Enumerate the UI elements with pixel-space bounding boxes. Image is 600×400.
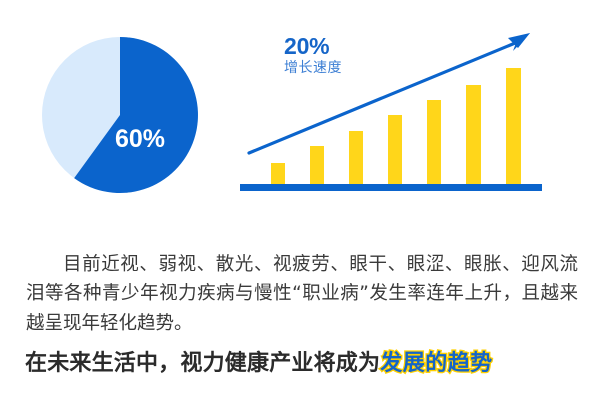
headline: 在未来生活中，视力健康产业将成为发展的趋势 xyxy=(25,345,585,377)
pie-percent-label: 60% xyxy=(115,125,165,153)
bar-1 xyxy=(271,163,285,185)
bar-2 xyxy=(310,146,324,185)
chart-baseline xyxy=(240,184,542,191)
growth-subtitle-label: 增长速度 xyxy=(284,61,342,77)
growth-callout: 20% 增长速度 xyxy=(284,34,342,76)
body-paragraph: 目前近视、弱视、散光、视疲劳、眼干、眼涩、眼胀、迎风流泪等各种青少年视力疾病与慢… xyxy=(26,250,578,340)
growth-percent-label: 20% xyxy=(284,34,342,60)
bar-5 xyxy=(427,100,441,185)
bar-7 xyxy=(506,68,521,185)
bar-chart-svg xyxy=(234,24,554,196)
headline-plain-text: 在未来生活中，视力健康产业将成为 xyxy=(25,351,380,376)
bar-6 xyxy=(466,85,481,185)
bar-4 xyxy=(388,115,402,185)
pie-chart-svg: 60% xyxy=(42,37,198,193)
bar-chart xyxy=(234,24,554,196)
bar-3 xyxy=(349,131,363,185)
poster-canvas: 60% 20% 增长速度 目前近视、弱视、散光、视疲劳 xyxy=(0,0,600,400)
pie-chart: 60% xyxy=(42,37,198,193)
headline-accent-text: 发展的趋势 xyxy=(380,351,493,376)
